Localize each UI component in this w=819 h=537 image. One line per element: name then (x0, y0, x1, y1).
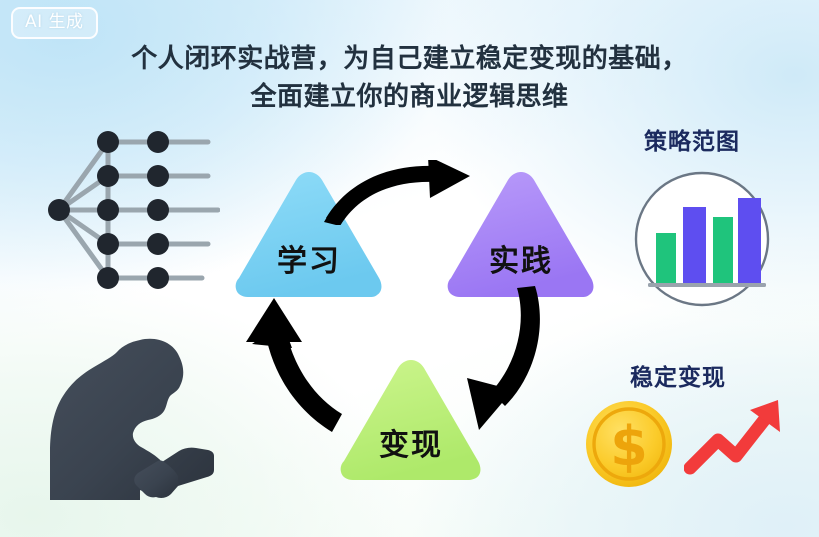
ai-badge-label: AI 生成 (25, 12, 84, 32)
growth-arrow-up-icon (684, 396, 784, 480)
coin-dollar-symbol: $ (610, 415, 648, 478)
title-line-1: 个人闭环实战营，为自己建立稳定变现的基础， (0, 40, 819, 78)
page-title: 个人闭环实战营，为自己建立稳定变现的基础， 全面建立你的商业逻辑思维 (0, 40, 819, 116)
chart-bar-2 (683, 207, 706, 283)
chart-bar-1 (656, 233, 676, 283)
poster-canvas: AI 生成 个人闭环实战营，为自己建立稳定变现的基础， 全面建立你的商业逻辑思维… (0, 0, 819, 537)
label-income: 稳定变现 (630, 358, 726, 392)
title-line-2: 全面建立你的商业逻辑思维 (0, 78, 819, 116)
curved-arrow-up-icon (240, 282, 345, 441)
gold-coin-dollar-icon: $ (583, 398, 675, 494)
curved-arrow-down-icon (455, 282, 560, 446)
strategy-bar-chart (626, 170, 778, 312)
chart-bar-4 (738, 198, 761, 283)
chart-baseline (648, 283, 766, 287)
ai-generated-badge: AI 生成 (11, 7, 98, 39)
network-tree-diagram (40, 125, 220, 299)
curved-arrow-right-icon (318, 160, 498, 229)
chart-bar-3 (713, 217, 733, 283)
person-reading-silhouette (28, 334, 243, 533)
label-strategy: 策略范图 (644, 122, 740, 156)
